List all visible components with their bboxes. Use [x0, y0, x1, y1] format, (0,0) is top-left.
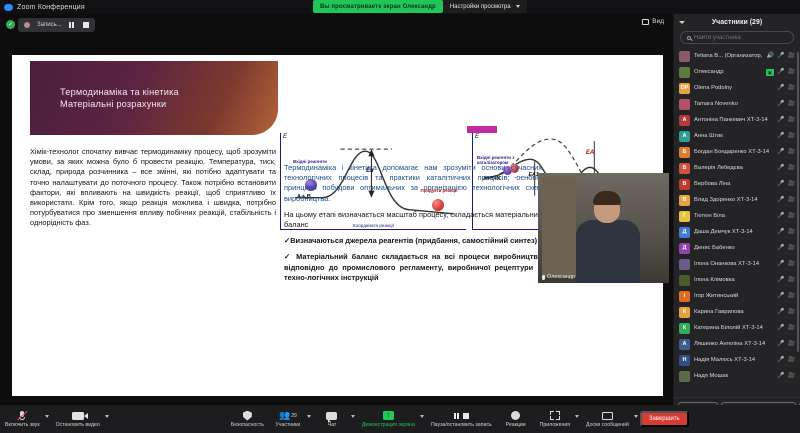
- participant-status-icons: 🎤🎥: [777, 373, 795, 379]
- screen-share-banner: Вы просматриваете экран Олександр Настро…: [313, 0, 527, 13]
- camera-off-icon[interactable]: 🎥: [788, 133, 795, 139]
- mic-muted-icon[interactable]: 🎤: [777, 309, 784, 315]
- mic-icon: [542, 275, 545, 280]
- participant-name: Даша Демчук ХТ-3-14: [694, 229, 773, 235]
- video-door: [542, 177, 576, 277]
- participant-row[interactable]: ААнна Штик🎤🎥: [674, 128, 800, 144]
- avatar-initials: А: [679, 131, 690, 142]
- participant-row[interactable]: ККарина Гаврилова🎤🎥: [674, 304, 800, 320]
- window-title: Zoom Конференция: [17, 4, 85, 11]
- camera-off-icon[interactable]: 🎥: [788, 357, 795, 363]
- mic-muted-icon[interactable]: 🎤: [777, 373, 784, 379]
- participant-status-icons: 🔊🎤🎥: [767, 53, 795, 59]
- mic-muted-icon: [17, 410, 27, 421]
- meeting-toolbar: Включить звук Остановить видео Безопасно…: [0, 405, 800, 433]
- mic-muted-icon[interactable]: 🎤: [777, 117, 784, 123]
- avatar-initials: Б: [679, 147, 690, 158]
- participant-row[interactable]: ВВербова Ліна🎤🎥: [674, 176, 800, 192]
- participant-row[interactable]: ККатерина Білолій ХТ-3-14🎤🎥: [674, 320, 800, 336]
- participant-status-icons: 🎤🎥: [777, 277, 795, 283]
- self-view-video-tile[interactable]: Олександр: [538, 173, 669, 283]
- camera-off-icon[interactable]: 🎥: [788, 101, 795, 107]
- right-bullet-1: ✓Визначаються джерела реагентів (придбан…: [284, 236, 542, 246]
- participant-row[interactable]: ДДенис Бабенко🎤🎥: [674, 240, 800, 256]
- toolbar-stop-video-button[interactable]: Остановить видео: [51, 410, 105, 428]
- mic-muted-icon[interactable]: 🎤: [777, 245, 784, 251]
- avatar-initials: OP: [679, 83, 690, 94]
- pause-icon[interactable]: [69, 22, 76, 29]
- participant-name: Olena Podolny: [694, 85, 773, 91]
- toolbar-share-screen-label: Демонстрация экрана: [362, 422, 415, 428]
- participant-name: Надя Мошак: [694, 373, 773, 379]
- toolbar-reactions-label: Реакции: [506, 422, 526, 428]
- toolbar-share-screen-button[interactable]: ↑ Демонстрация экрана: [357, 410, 420, 428]
- view-label: Вид: [652, 18, 664, 25]
- toolbar-apps-button[interactable]: Приложения: [535, 410, 575, 428]
- mic-muted-icon[interactable]: 🎤: [777, 213, 784, 219]
- avatar-photo: [679, 371, 690, 382]
- mic-muted-icon[interactable]: 🎤: [777, 261, 784, 267]
- participant-name: Тютюн Біла: [694, 213, 773, 219]
- participant-row[interactable]: ААнтоніна Панкевич ХТ-3-14🎤🎥: [674, 112, 800, 128]
- participant-name: Ляшенко Ангеліна ХТ-3-14: [694, 341, 773, 347]
- camera-off-icon[interactable]: 🎥: [788, 309, 795, 315]
- toolbar-participants-label: Участники: [276, 422, 301, 428]
- video-person-body: [576, 220, 640, 283]
- mic-muted-icon[interactable]: 🎤: [777, 325, 784, 331]
- participant-row[interactable]: OPOlena Podolny🎤🎥: [674, 80, 800, 96]
- participant-name: Катерина Білолій ХТ-3-14: [694, 325, 773, 331]
- layout-icon: [642, 19, 649, 25]
- camera-icon: [72, 410, 84, 421]
- share-status-text: Вы просматриваете экран Олександр: [313, 0, 443, 13]
- camera-off-icon[interactable]: 🎥: [788, 165, 795, 171]
- avatar-initials: В: [679, 163, 690, 174]
- participant-row[interactable]: ІІгор Житинський🎤🎥: [674, 288, 800, 304]
- mic-muted-icon[interactable]: 🎤: [777, 277, 784, 283]
- participant-name: Валерія Лебедєва: [694, 165, 773, 171]
- pause-stop-icon: [454, 410, 469, 421]
- participant-row[interactable]: ГТютюн Біла🎤🎥: [674, 208, 800, 224]
- toolbar-whiteboard-label: Доски сообщений: [586, 422, 629, 428]
- participant-name: Вербова Ліна: [694, 181, 773, 187]
- speaker-icon[interactable]: 🔊: [767, 53, 774, 59]
- participant-row[interactable]: АЛяшенко Ангеліна ХТ-3-14🎤🎥: [674, 336, 800, 352]
- participants-search-wrap: [674, 31, 800, 48]
- avatar-initials: Д: [679, 243, 690, 254]
- check-circle-icon: ✓: [6, 20, 15, 29]
- participant-status-icons: 🎤🎥: [777, 85, 795, 91]
- mic-muted-icon[interactable]: 🎤: [777, 133, 784, 139]
- slide-title-banner: Термодинаміка та кінетика Матеріальні ро…: [30, 61, 278, 135]
- avatar-initials: Д: [679, 227, 690, 238]
- camera-off-icon[interactable]: 🎥: [788, 341, 795, 347]
- avatar-initials: А: [679, 115, 690, 126]
- participant-name: Ілона Клімовка: [694, 277, 773, 283]
- camera-off-icon[interactable]: 🎥: [788, 53, 795, 59]
- toolbar-apps-label: Приложения: [540, 422, 570, 428]
- mic-muted-icon[interactable]: 🎤: [777, 101, 784, 107]
- view-layout-button[interactable]: Вид: [642, 18, 664, 25]
- chevron-down-icon: [516, 5, 520, 8]
- apps-icon: [550, 410, 560, 421]
- participant-status-icons: 🎤🎥: [777, 117, 795, 123]
- participant-name: Tetiana B... (Организатор, я): [694, 53, 763, 59]
- end-meeting-button[interactable]: Завершить: [640, 411, 689, 427]
- participants-count: 29: [291, 413, 297, 419]
- camera-off-icon[interactable]: 🎥: [788, 117, 795, 123]
- toolbar-reactions-button[interactable]: Реакции: [497, 410, 535, 428]
- share-screen-icon: ↑: [383, 410, 394, 421]
- participant-row[interactable]: ВВалерія Лебедєва🎤🎥: [674, 160, 800, 176]
- share-view-options-button[interactable]: Настройки просмотра: [443, 0, 527, 13]
- camera-off-icon[interactable]: 🎥: [788, 229, 795, 235]
- toolbar-left-group: Включить звук Остановить видео: [0, 405, 111, 433]
- toolbar-pause-record-button[interactable]: Пауза/остановить запись: [426, 410, 497, 428]
- participant-status-icons: 🎤🎥: [777, 165, 795, 171]
- avatar-photo: [679, 275, 690, 286]
- participant-status-icons: 🎤🎥: [777, 309, 795, 315]
- shield-icon: [243, 410, 252, 421]
- search-input[interactable]: [694, 35, 787, 41]
- participant-status-icons: ▣🎤🎥: [766, 69, 795, 76]
- participant-row[interactable]: Олександр▣🎤🎥: [674, 64, 800, 80]
- participant-status-icons: 🎤🎥: [777, 181, 795, 187]
- participant-name: Ігор Житинський: [694, 293, 773, 299]
- participant-row[interactable]: Ілона Онанкова ХТ-3-14🎤🎥: [674, 256, 800, 272]
- participants-list[interactable]: Tetiana B... (Организатор, я)🔊🎤🎥Олександ…: [674, 48, 800, 397]
- participant-row[interactable]: ВВлад Здоренко ХТ-3-14🎤🎥: [674, 192, 800, 208]
- toolbar-security-label: Безопасность: [231, 422, 264, 428]
- participant-row[interactable]: ББогдан Бондаренко ХТ-3-14🎤🎥: [674, 144, 800, 160]
- camera-off-icon[interactable]: 🎥: [788, 197, 795, 203]
- screen-share-badge-icon: ▣: [766, 69, 774, 76]
- avatar-photo: [679, 51, 690, 62]
- slide-title-line-1: Термодинаміка та кінетика: [60, 86, 278, 98]
- mic-on-icon[interactable]: 🎤: [777, 69, 784, 75]
- participant-name: Надія Малюсь ХТ-3-14: [694, 357, 773, 363]
- diagram-right-ea-label: EA: [586, 151, 594, 156]
- camera-grey-icon[interactable]: 🎥: [788, 213, 795, 219]
- toolbar-chat-label: Чат: [328, 422, 337, 428]
- participant-name: Tamara Novenko: [694, 101, 773, 107]
- participants-panel-title: Участники (29): [712, 19, 762, 26]
- mic-muted-icon[interactable]: 🎤: [777, 149, 784, 155]
- video-person-hair: [593, 191, 621, 205]
- camera-off-icon[interactable]: 🎥: [788, 325, 795, 331]
- participant-status-icons: 🎤🎥: [777, 357, 795, 363]
- participant-status-icons: 🎤🎥: [777, 325, 795, 331]
- camera-off-icon[interactable]: 🎥: [788, 85, 795, 91]
- participant-status-icons: 🎤🎥: [777, 213, 795, 219]
- camera-off-icon[interactable]: 🎥: [788, 69, 795, 75]
- chevron-up-icon-apps[interactable]: [575, 415, 579, 418]
- participants-icon: 👥 29: [279, 410, 297, 421]
- toolbar-security-button[interactable]: Безопасность: [226, 410, 269, 428]
- slide-right-content: Термодинаміка і кінетика допомагає нам з…: [284, 163, 542, 289]
- mic-muted-icon[interactable]: 🎤: [777, 53, 784, 59]
- avatar-initials: І: [679, 291, 690, 302]
- mic-muted-icon[interactable]: 🎤: [777, 165, 784, 171]
- chevron-up-icon-video[interactable]: [105, 415, 109, 418]
- reactions-icon: [511, 410, 520, 421]
- chevron-up-icon-mic[interactable]: [45, 415, 49, 418]
- participant-status-icons: 🎤🎥: [777, 261, 795, 267]
- participant-row[interactable]: ННадія Малюсь ХТ-3-14🎤🎥: [674, 352, 800, 368]
- avatar-initials: К: [679, 323, 690, 334]
- camera-off-icon[interactable]: 🎥: [788, 261, 795, 267]
- search-box[interactable]: [680, 31, 794, 44]
- participant-status-icons: 🎤🎥: [777, 149, 795, 155]
- camera-off-icon[interactable]: 🎥: [788, 245, 795, 251]
- avatar-initials: В: [679, 195, 690, 206]
- recording-label: Запись...: [37, 22, 62, 28]
- toolbar-chat-button[interactable]: Чат: [313, 410, 351, 428]
- participant-name: Богдан Бондаренко ХТ-3-14: [694, 149, 773, 155]
- search-icon: [687, 36, 691, 40]
- participant-row[interactable]: Ілона Клімовка🎤🎥: [674, 272, 800, 288]
- zoom-meeting-window: Zoom Конференция Вы просматриваете экран…: [0, 0, 800, 433]
- avatar-initials: Н: [679, 355, 690, 366]
- participant-status-icons: 🎤🎥: [777, 293, 795, 299]
- slide-title-line-2: Матеріальні розрахунки: [60, 98, 278, 110]
- participant-row[interactable]: ДДаша Демчук ХТ-3-14🎤🎥: [674, 224, 800, 240]
- participant-name: Денис Бабенко: [694, 245, 773, 251]
- chat-icon: [326, 410, 337, 421]
- participant-row[interactable]: Tetiana B... (Организатор, я)🔊🎤🎥: [674, 48, 800, 64]
- mic-muted-icon[interactable]: 🎤: [777, 293, 784, 299]
- mic-muted-icon[interactable]: 🎤: [777, 341, 784, 347]
- chevron-up-icon-share[interactable]: [420, 415, 424, 418]
- whiteboard-icon: [602, 410, 613, 421]
- mic-muted-icon[interactable]: 🎤: [777, 197, 784, 203]
- participant-name: Анна Штик: [694, 133, 773, 139]
- avatar-initials: Г: [679, 211, 690, 222]
- toolbar-unmute-label: Включить звук: [5, 422, 40, 428]
- participant-status-icons: 🎤🎥: [777, 197, 795, 203]
- avatar-initials: А: [679, 339, 690, 350]
- toolbar-center-group: Безопасность 👥 29 Участники Чат ↑ Демонс…: [226, 405, 640, 433]
- participant-name: Олександр: [694, 69, 762, 75]
- camera-off-icon[interactable]: 🎥: [788, 149, 795, 155]
- stop-icon[interactable]: [83, 22, 89, 28]
- participant-status-icons: 🎤🎥: [777, 245, 795, 251]
- chevron-down-icon[interactable]: [679, 21, 685, 24]
- self-view-name-overlay: Олександр: [542, 274, 575, 280]
- participant-status-icons: 🎤🎥: [777, 133, 795, 139]
- participant-name: Влад Здоренко ХТ-3-14: [694, 197, 773, 203]
- chevron-up-icon-whiteboard[interactable]: [634, 415, 638, 418]
- participant-status-icons: 🎤🎥: [777, 341, 795, 347]
- mic-muted-icon[interactable]: 🎤: [777, 85, 784, 91]
- avatar-initials: К: [679, 307, 690, 318]
- toolbar-stop-video-label: Остановить видео: [56, 422, 100, 428]
- avatar-photo: [679, 67, 690, 78]
- camera-grey-icon[interactable]: 🎥: [788, 293, 795, 299]
- self-view-name: Олександр: [547, 274, 575, 280]
- participant-name: Антоніна Панкевич ХТ-3-14: [694, 117, 773, 123]
- participants-panel: Участники (29) Tetiana B... (Организатор…: [673, 14, 800, 419]
- right-paragraph-1: Термодинаміка і кінетика допомагає нам з…: [284, 163, 542, 204]
- participant-name: Карина Гаврилова: [694, 309, 773, 315]
- toolbar-whiteboard-button[interactable]: Доски сообщений: [581, 410, 634, 428]
- participants-panel-header: Участники (29): [674, 14, 800, 31]
- record-dot-icon: [24, 22, 30, 28]
- participant-row[interactable]: Tamara Novenko🎤🎥: [674, 96, 800, 112]
- right-paragraph-2: На цьому етапі визначається масштаб проц…: [284, 210, 542, 230]
- toolbar-participants-button[interactable]: 👥 29 Участники: [269, 410, 307, 428]
- slide-accent-tab: [467, 126, 497, 133]
- participant-name: Ілона Онанкова ХТ-3-14: [694, 261, 773, 267]
- participant-status-icons: 🎤🎥: [777, 229, 795, 235]
- toolbar-unmute-button[interactable]: Включить звук: [0, 410, 45, 428]
- camera-off-icon[interactable]: 🎥: [788, 373, 795, 379]
- participants-scrollbar[interactable]: [797, 52, 800, 352]
- toolbar-pause-record-label: Пауза/остановить запись: [431, 422, 492, 428]
- right-bullet-2: ✓ Матеріальний баланс складається на всі…: [284, 252, 542, 283]
- camera-off-icon[interactable]: 🎥: [788, 181, 795, 187]
- mic-muted-icon[interactable]: 🎤: [777, 229, 784, 235]
- chevron-up-icon-chat[interactable]: [351, 415, 355, 418]
- avatar-initials: В: [679, 179, 690, 190]
- mic-muted-icon[interactable]: 🎤: [777, 357, 784, 363]
- participant-row[interactable]: Надя Мошак🎤🎥: [674, 368, 800, 384]
- zoom-logo-icon: [4, 4, 13, 11]
- avatar-photo: [679, 99, 690, 110]
- mic-muted-icon[interactable]: 🎤: [777, 181, 784, 187]
- avatar-photo: [679, 259, 690, 270]
- recording-indicator: Запись...: [18, 18, 95, 32]
- participant-status-icons: 🎤🎥: [777, 101, 795, 107]
- camera-off-icon[interactable]: 🎥: [788, 277, 795, 283]
- slide-left-paragraph: Хімік-технолог спочатку вивчає термодина…: [30, 147, 276, 229]
- share-options-label: Настройки просмотра: [450, 4, 511, 10]
- chevron-up-icon-participants[interactable]: [307, 415, 311, 418]
